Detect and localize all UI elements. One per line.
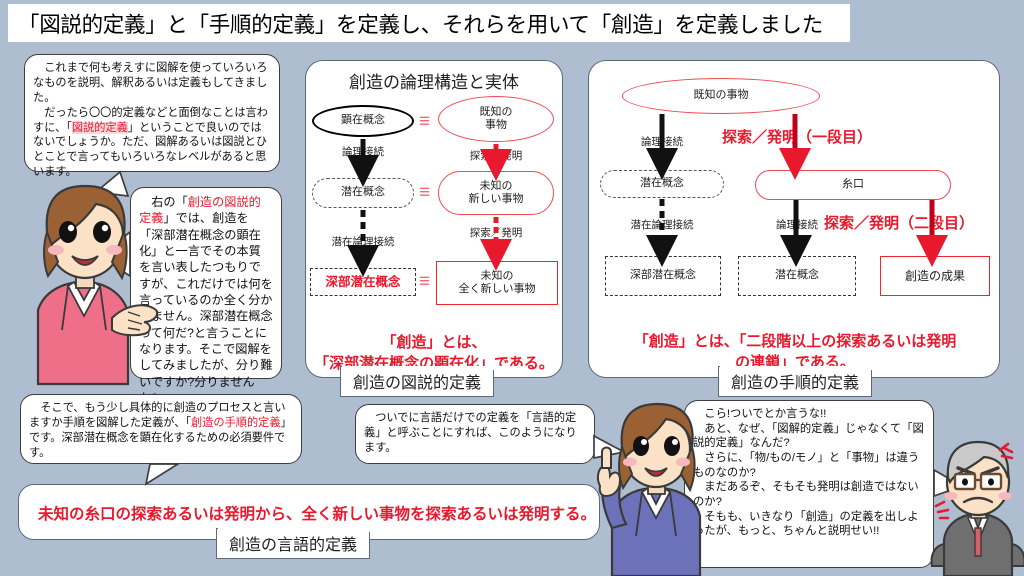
bubble-top-left-para2: だったら〇〇的定義などと面倒なことは言わすに、「図説的定義」ということで良いので…: [33, 106, 271, 180]
bubble-mid-left-a: 右の「: [151, 195, 188, 209]
bubble-bottom-mid-text: ついでに言語だけでの定義を「言語的定義」と呼ぶことにすれば、このようになります。: [364, 411, 586, 456]
edge-label-tansaku-hatsumei-c2: 探索／発明: [438, 225, 554, 240]
edge-label-tansaku-hatsumei-stage1: 探索／発明（一段目）: [722, 126, 872, 147]
bottom-banner-text: 未知の糸口の探索あるいは発明から、全く新しい事物を探索あるいは発明する。: [38, 502, 596, 524]
equivalence-symbol-3: ≡: [419, 272, 430, 291]
bubble-bottom-left-highlight: 創造の手順的定義: [191, 417, 281, 429]
bubble-br-line-5: そもも、いきなり「創造」の定義を出しよったが、もっと、ちゃんと説明せい!!: [693, 510, 925, 539]
edge-label-ronri-setsuzoku-center: 論理接続: [312, 144, 414, 159]
node-senzai-gainen-right-mid: 潜在概念: [600, 170, 724, 198]
slide-title-bar: 「図説的定義」と「手順的定義」を定義し、それらを用いて「創造」を定義しました: [8, 4, 850, 42]
anger-mark-icon: [1000, 444, 1012, 458]
bubble-mid-left-text: 右の「創造の図説的定義」では、創造を「深部潜在概念の顕在化」と一言でその本質を言…: [139, 194, 273, 406]
equivalence-symbol-2: ≡: [419, 183, 430, 202]
bubble-bottom-left-text: そこで、もう少し具体的に創造のプロセスと言いますか手順を図解した定義が、「創造の…: [29, 401, 293, 461]
bubble-tail-bottom-left: [146, 464, 178, 484]
bubble-br-line-4: まだあるぞ、そもそも発明は創造ではないのか?: [693, 480, 925, 509]
tab-zusetsu-teigi: 創造の図説的定義: [340, 366, 494, 397]
equivalence-symbol-1: ≡: [419, 112, 430, 131]
bubble-top-left: これまで何も考えすに図解を使っていろいろなものを説明、解釈あるいは定義もしてきま…: [24, 54, 280, 172]
bubble-top-left-highlight: 図説的定義: [72, 122, 128, 134]
anger-mark-icon-2: [936, 502, 948, 518]
node-michi-no-mattaku-atarashii-jibutsu: 未知の 全く新しい事物: [436, 261, 558, 305]
bubble-tail-bottom-right: [934, 470, 962, 496]
node-kichi-no-jibutsu-center: 既知の 事物: [438, 96, 554, 142]
edge-label-tansaku-hatsumei-stage2: 探索／発明（二段目）: [824, 212, 974, 233]
edge-label-senzai-ronri-setsuzoku-center: 潜在論理接続: [306, 234, 420, 249]
angry-man-character: [932, 442, 1024, 576]
bubble-bottom-right: こら!ついでとか言うな!! あと、なぜ、「図解的定義」じゃなくて「図説的定義」な…: [684, 400, 934, 568]
center-diagram-heading: 創造の論理構造と実体: [305, 68, 563, 93]
edge-label-tansaku-hatsumei-c1: 探索／発明: [438, 148, 554, 163]
node-kichi-no-jibutsu-right: 既知の事物: [622, 78, 820, 114]
center-diagram-conclusion: 「創造」とは、 「深部潜在概念の顕在化」である。: [305, 313, 563, 374]
right-diagram-conclusion: 「創造」とは、「二段階以上の探索あるいは発明 の連鎖」である。: [600, 312, 990, 373]
node-michi-no-atarashii-jibutsu: 未知の 新しい事物: [438, 171, 554, 215]
bubble-br-line-2: あと、なぜ、「図解的定義」じゃなくて「図説的定義」なんだ?: [693, 422, 925, 451]
slide-canvas: 「図説的定義」と「手順的定義」を定義し、それらを用いて「創造」を定義しました 創…: [0, 0, 1024, 576]
page-title: 「図説的定義」と「手順的定義」を定義し、それらを用いて「創造」を定義しました: [18, 8, 823, 39]
bubble-bottom-left: そこで、もう少し具体的に創造のプロセスと言いますか手順を図解した定義が、「創造の…: [20, 394, 302, 464]
bubble-mid-left: 右の「創造の図説的定義」では、創造を「深部潜在概念の顕在化」と一言でその本質を言…: [130, 187, 282, 379]
bubble-tail-mid-left: [100, 232, 130, 276]
node-kenzai-gainen: 顕在概念: [312, 105, 414, 137]
node-senzai-gainen: 潜在概念: [312, 178, 414, 208]
bubble-tail-bottom-mid: [594, 436, 624, 458]
node-shinbu-senzai-gainen-right: 深部潜在概念: [605, 256, 721, 296]
node-souzou-no-seika: 創造の成果: [880, 256, 990, 296]
edge-label-ronri-setsuzoku-r1: 論理接続: [600, 134, 724, 149]
node-itoguchi: 糸口: [755, 170, 951, 200]
bubble-br-line-1: こら!ついでとか言うな!!: [693, 407, 925, 422]
node-shinbu-senzai-gainen: 深部潜在概念: [310, 268, 416, 296]
node-senzai-gainen-right-bottom: 潜在概念: [738, 256, 856, 296]
tab-gengo-teigi: 創造の言語的定義: [216, 528, 370, 559]
bubble-br-line-3: さらに、「物/もの/モノ」と「事物」は違うものなのか?: [693, 451, 925, 480]
tab-tejun-teigi: 創造の手順的定義: [718, 366, 872, 397]
bubble-top-left-para1: これまで何も考えすに図解を使っていろいろなものを説明、解釈あるいは定義もしてきま…: [33, 61, 271, 106]
bubble-mid-left-b: 」では、創造を「深部潜在概念の顕在化」と一言でその本質を言い表したつもりですが、…: [139, 211, 273, 405]
edge-label-senzai-ronri-setsuzoku-r: 潜在論理接続: [594, 217, 730, 232]
bubble-bottom-mid: ついでに言語だけでの定義を「言語的定義」と呼ぶことにすれば、このようになります。: [355, 404, 595, 464]
